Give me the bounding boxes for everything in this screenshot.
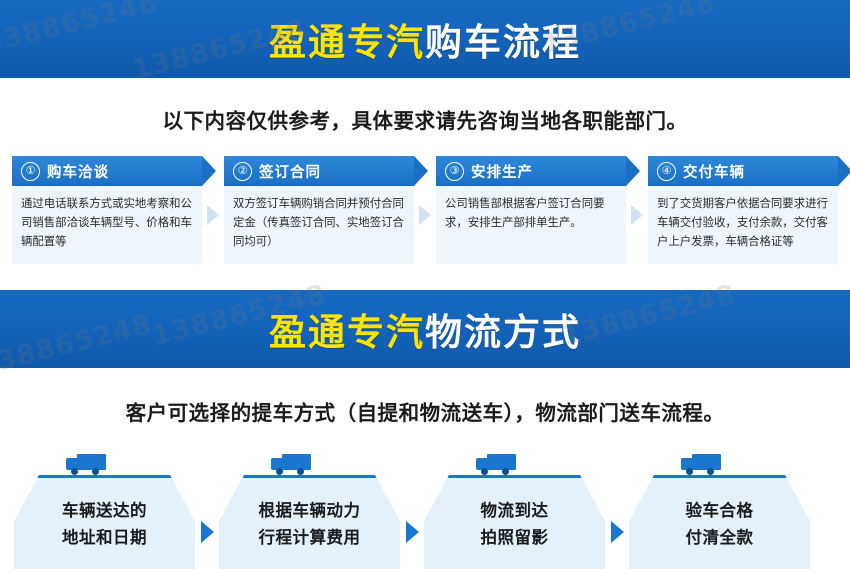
step-number-badge: ③ [445, 162, 464, 181]
step-header: ④ 交付车辆 [648, 156, 838, 186]
logistics-card: 验车合格 付清全款 [629, 448, 810, 569]
banner-subtitle: 购车流程 [425, 21, 581, 64]
logistics-card-body: 根据车辆动力 行程计算费用 [219, 475, 400, 569]
logistics-title: 盈通专汽物流方式 [269, 302, 581, 356]
logistics-card-line1: 物流到达 [481, 497, 549, 524]
step-title: 交付车辆 [683, 161, 745, 182]
step-description: 到了交货期客户依据合同要求进行车辆交付验收，支付余款，交付客户上户发票，车辆合格… [648, 186, 838, 264]
step-number-badge: ② [233, 162, 252, 181]
logistics-card-line2: 拍照留影 [481, 524, 549, 551]
step-card: ③ 安排生产 公司销售部根据客户签订合同要求，安排生产部排单生产。 [436, 156, 626, 264]
step-header: ① 购车洽谈 [12, 156, 202, 186]
truck-icon [629, 448, 810, 475]
step-description: 公司销售部根据客户签订合同要求，安排生产部排单生产。 [436, 186, 626, 264]
logistics-card: 根据车辆动力 行程计算费用 [219, 448, 400, 569]
banner-subtitle: 物流方式 [425, 311, 581, 354]
step-number-badge: ① [21, 162, 40, 181]
purchase-process-banner: 盈通专汽购车流程 [0, 0, 850, 78]
brand-name: 盈通专汽 [269, 21, 425, 64]
step-number-badge: ④ [657, 162, 676, 181]
step-header: ③ 安排生产 [436, 156, 626, 186]
logistics-arrow-icon [400, 448, 424, 544]
purchase-process-title: 盈通专汽购车流程 [269, 12, 581, 66]
brand-name: 盈通专汽 [269, 311, 425, 354]
logistics-card-line2: 付清全款 [686, 524, 754, 551]
logistics-card-line2: 地址和日期 [62, 524, 147, 551]
step-description: 双方签订车辆购销合同并预付合同定金（传真签订合同、实地签订合同均可） [224, 186, 414, 264]
logistics-card-text: 车辆送达的 地址和日期 [62, 497, 147, 551]
logistics-card-line1: 验车合格 [686, 497, 754, 524]
step-header: ② 签订合同 [224, 156, 414, 186]
logistics-intro: 客户可选择的提车方式（自提和物流送车），物流部门送车流程。 [0, 396, 850, 426]
logistics-card-text: 根据车辆动力 行程计算费用 [259, 497, 361, 551]
logistics-card: 物流到达 拍照留影 [424, 448, 605, 569]
logistics-cards-row: 车辆送达的 地址和日期 根据车辆动力 行程计算费用 物流到达 拍照留影 [0, 448, 850, 569]
logistics-card-line1: 根据车辆动力 [259, 497, 361, 524]
purchase-process-intro: 以下内容仅供参考，具体要求请先咨询当地各职能部门。 [0, 104, 850, 134]
logistics-arrow-icon [605, 448, 629, 544]
logistics-card-text: 物流到达 拍照留影 [481, 497, 549, 551]
step-card: ④ 交付车辆 到了交货期客户依据合同要求进行车辆交付验收，支付余款，交付客户上户… [648, 156, 838, 264]
logistics-card-body: 车辆送达的 地址和日期 [14, 475, 195, 569]
logistics-card-line1: 车辆送达的 [62, 497, 147, 524]
truck-icon [14, 448, 195, 475]
step-description: 通过电话联系方式或实地考察和公司销售部洽谈车辆型号、价格和车辆配置等 [12, 186, 202, 264]
step-title: 购车洽谈 [47, 161, 109, 182]
truck-icon [219, 448, 400, 475]
purchase-steps-row: ① 购车洽谈 通过电话联系方式或实地考察和公司销售部洽谈车辆型号、价格和车辆配置… [0, 156, 850, 264]
logistics-arrow-icon [195, 448, 219, 544]
logistics-banner: 盈通专汽物流方式 [0, 290, 850, 368]
step-title: 签订合同 [259, 161, 321, 182]
logistics-card-text: 验车合格 付清全款 [686, 497, 754, 551]
step-card: ② 签订合同 双方签订车辆购销合同并预付合同定金（传真签订合同、实地签订合同均可… [224, 156, 414, 264]
logistics-card-body: 物流到达 拍照留影 [424, 475, 605, 569]
logistics-card: 车辆送达的 地址和日期 [14, 448, 195, 569]
step-title: 安排生产 [471, 161, 533, 182]
logistics-card-body: 验车合格 付清全款 [629, 475, 810, 569]
logistics-card-line2: 行程计算费用 [259, 524, 361, 551]
step-card: ① 购车洽谈 通过电话联系方式或实地考察和公司销售部洽谈车辆型号、价格和车辆配置… [12, 156, 202, 264]
truck-icon [424, 448, 605, 475]
